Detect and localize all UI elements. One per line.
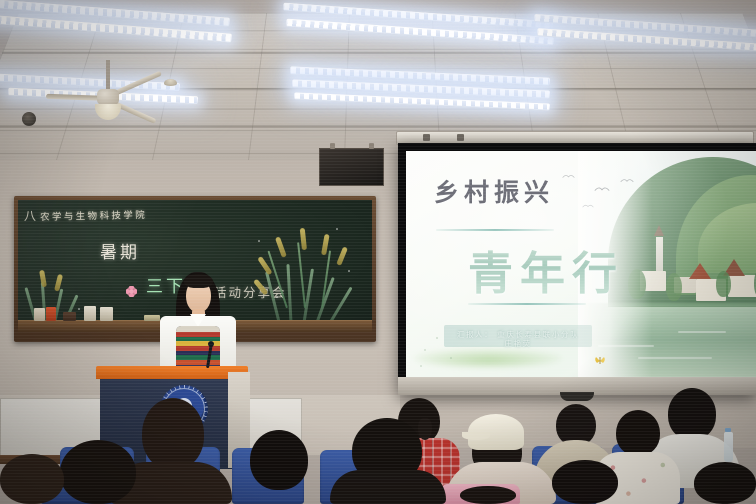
classroom-photo: 农学与生物科技学院 八 暑期 三下乡 活动分享会 (0, 0, 756, 504)
slide-headline: 青年行 (468, 237, 624, 302)
audience-head (0, 454, 64, 504)
audience-head (668, 388, 716, 440)
audience-head (60, 440, 136, 504)
photo-tree (666, 273, 682, 301)
slide-title: 乡村振兴 (434, 173, 554, 209)
audience-head (142, 398, 204, 470)
speaker-mount (330, 143, 335, 149)
chalk-box (63, 312, 76, 321)
ceiling-fixture (22, 112, 36, 126)
photo-church-roof (654, 225, 664, 236)
microphone-head (208, 341, 214, 347)
wall-speaker (319, 148, 384, 186)
audience-head (460, 486, 516, 504)
audience-head (616, 410, 660, 456)
screen-weight-bar (560, 392, 594, 401)
chalk-box (34, 308, 45, 321)
audience-shoulders (330, 470, 446, 504)
audience-head (250, 430, 308, 490)
cap-brim (462, 432, 490, 440)
slide-divider (468, 303, 586, 305)
chalk-flower-icon (126, 286, 137, 297)
slide-grass-wash (414, 349, 562, 367)
podium-top (96, 366, 248, 379)
chalk-eraser (144, 315, 160, 321)
bird-icon (562, 173, 575, 180)
chalk-box (100, 307, 113, 321)
bird-icon (594, 185, 610, 192)
audience-head (418, 418, 432, 440)
speaker-mount (369, 143, 374, 149)
photo-house-roof (689, 263, 711, 279)
water-bottle (724, 432, 733, 462)
chalkboard-header: 农学与生物科技学院 (40, 207, 147, 223)
bird-icon (620, 177, 634, 184)
projection-screen: 乡村振兴 青年行 汇报人： 重庆长寿县联小分队 庄艳荧 (398, 143, 756, 395)
chalk-mark: 八 (24, 207, 36, 224)
chalkboard-line-1: 暑期 (100, 238, 140, 263)
chalkboard-line-3: 活动分享会 (214, 282, 287, 301)
photo-house (728, 275, 756, 297)
slide-subtitle-band: 汇报人： 重庆长寿县联小分队 庄艳荧 (444, 325, 592, 347)
photo-tree (716, 271, 731, 297)
audience-head (694, 462, 756, 504)
chalk-box (84, 306, 96, 321)
slide-divider (436, 229, 554, 231)
butterfly-icon (594, 353, 605, 363)
slide-subtitle-line-2: 庄艳荧 (444, 338, 592, 349)
bird-icon (582, 203, 594, 210)
chalk-box (46, 307, 56, 321)
presenter-vest (176, 326, 220, 370)
bottle-cap (725, 428, 731, 432)
presenter-fringe (184, 274, 213, 288)
smoke-detector-icon (164, 79, 177, 86)
presentation-slide: 乡村振兴 青年行 汇报人： 重庆长寿县联小分队 庄艳荧 (406, 151, 756, 377)
audience-head (552, 460, 618, 504)
